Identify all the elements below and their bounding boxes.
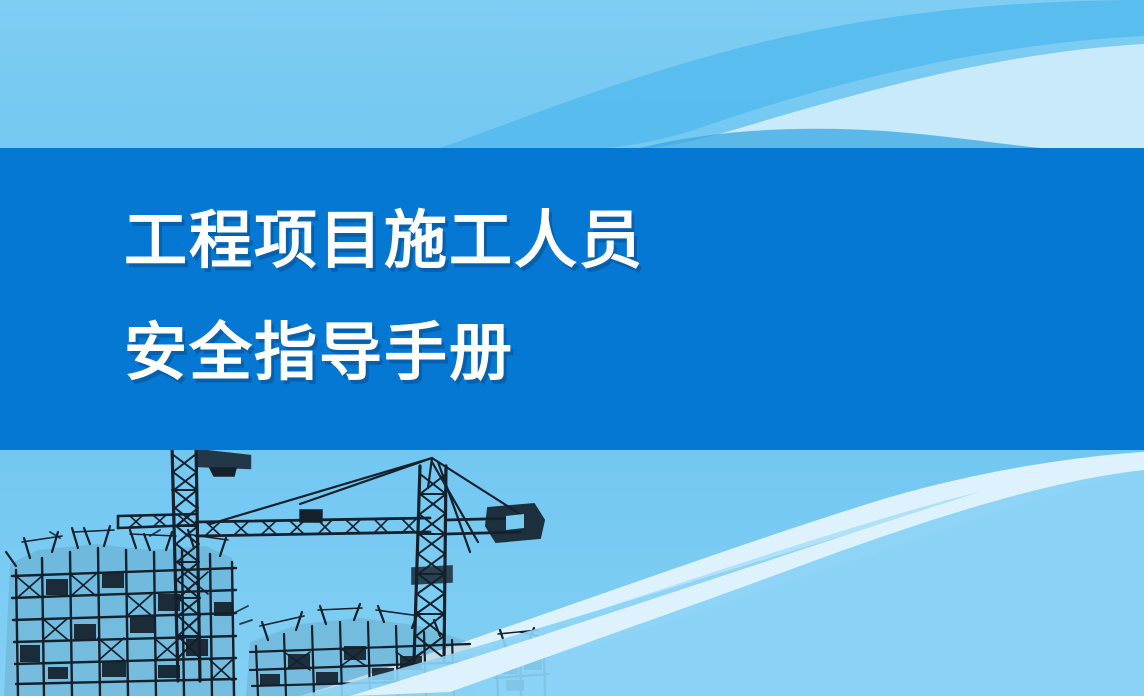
title-block: 工程项目施工人员 安全指导手册 bbox=[124, 185, 644, 409]
title-line-2: 安全指导手册 bbox=[124, 297, 644, 409]
poster-cover: 工程项目施工人员 安全指导手册 bbox=[0, 0, 1144, 696]
title-line-1: 工程项目施工人员 bbox=[124, 185, 644, 297]
